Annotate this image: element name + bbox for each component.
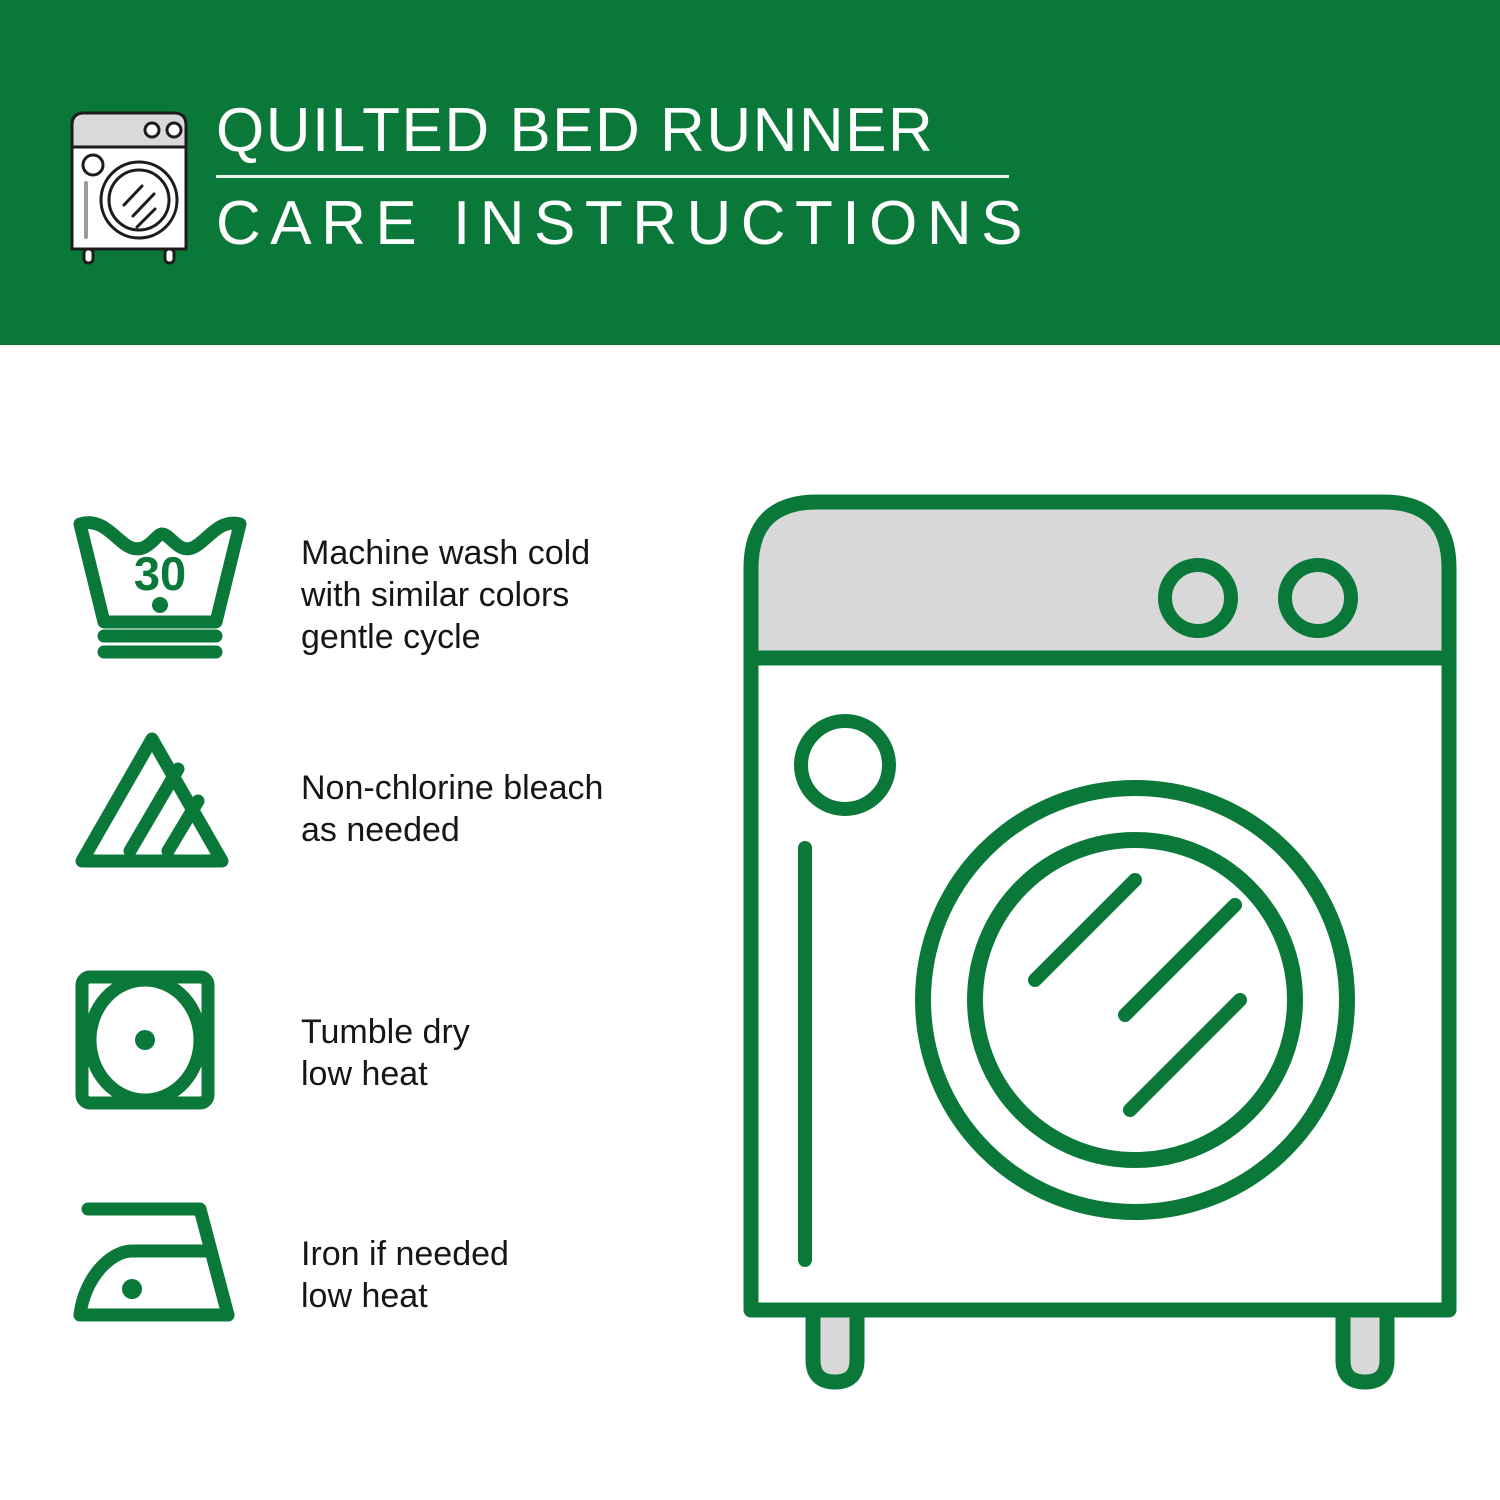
care-row-iron: Iron if needed low heat: [0, 1195, 700, 1355]
washing-machine-logo-icon: [62, 103, 202, 268]
title-divider: [216, 175, 1009, 178]
care-row-bleach: Non-chlorine bleach as needed: [0, 725, 700, 890]
header-text-block: QUILTED BED RUNNER CARE INSTRUCTIONS: [216, 96, 1046, 260]
care-text-iron: Iron if needed low heat: [301, 1233, 509, 1317]
wash-temperature-label: 30: [134, 547, 186, 600]
care-row-tumble-dry: Tumble dry low heat: [0, 965, 700, 1140]
care-instructions-page: QUILTED BED RUNNER CARE INSTRUCTIONS 30: [0, 0, 1500, 1500]
detergent-indicator-circle: [801, 721, 889, 809]
machine-leg-right: [1343, 1310, 1387, 1382]
care-text-tumble-dry: Tumble dry low heat: [301, 1011, 470, 1095]
page-subtitle: CARE INSTRUCTIONS: [216, 188, 1046, 260]
door-stripes: [1035, 880, 1240, 1110]
header-band: QUILTED BED RUNNER CARE INSTRUCTIONS: [0, 0, 1500, 345]
wash-tub-30-icon: 30: [70, 510, 250, 665]
machine-leg-left: [813, 1310, 857, 1382]
care-text-bleach: Non-chlorine bleach as needed: [301, 767, 603, 851]
care-row-machine-wash: 30 Machine wash cold with similar colors…: [0, 510, 700, 685]
page-title: QUILTED BED RUNNER: [216, 96, 1046, 166]
iron-icon: [70, 1195, 245, 1340]
care-instruction-list: 30 Machine wash cold with similar colors…: [0, 345, 700, 1500]
washing-machine-illustration: [735, 480, 1465, 1410]
tumble-dry-icon: [70, 965, 220, 1120]
bleach-triangle-icon: [70, 725, 240, 880]
care-text-machine-wash: Machine wash cold with similar colors ge…: [301, 532, 590, 658]
